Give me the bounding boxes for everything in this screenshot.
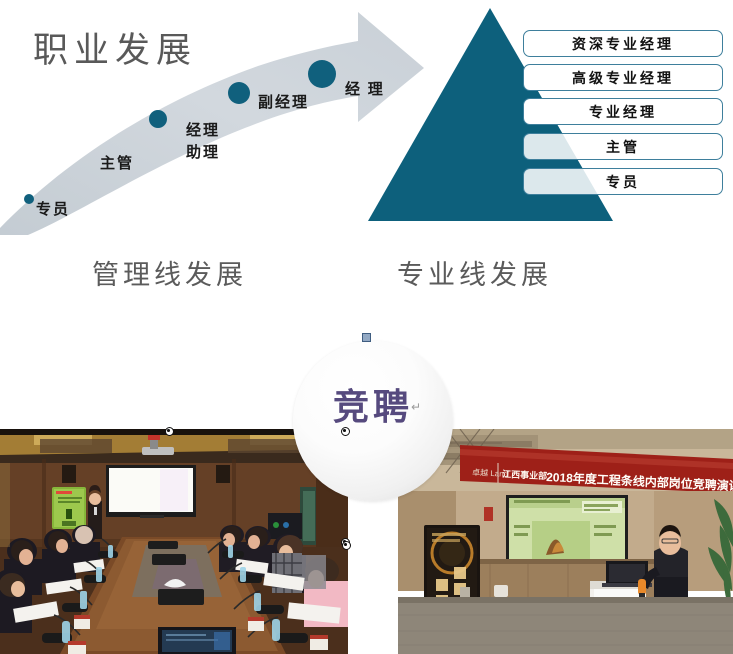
selection-marker-left-photo-top[interactable]	[165, 427, 174, 436]
caption-professional-line: 专业线发展	[397, 253, 552, 292]
career-node-dot-5[interactable]	[308, 60, 336, 88]
professional-pyramid-group[interactable]: 资深专业经理 高级专业经理 专业经理 主管 专员	[360, 0, 733, 235]
career-node-label-3: 经理助理	[186, 120, 232, 164]
slide-canvas: 职业发展 专员 主管 经理助理 副经理 经 理 资深专业经理 高级专业经理 专业…	[0, 0, 733, 654]
caption-management-line: 管理线发展	[92, 253, 247, 292]
conference-room-photo[interactable]	[0, 429, 348, 654]
career-node-dot-1[interactable]	[24, 194, 34, 204]
pyramid-level-2[interactable]: 主管	[523, 133, 723, 160]
competition-circle-label: 竞聘	[333, 378, 413, 430]
speech-event-image: 卓越 Land 江西事业部 2018年度工程条线内部岗位竞聘演讲会	[398, 429, 733, 654]
career-development-title: 职业发展	[33, 22, 197, 73]
pyramid-level-3[interactable]: 专业经理	[523, 98, 723, 125]
career-node-label-4: 副经理	[258, 91, 309, 112]
competition-speech-photo[interactable]: 卓越 Land 江西事业部 2018年度工程条线内部岗位竞聘演讲会	[398, 429, 733, 654]
svg-text:江西事业部: 江西事业部	[502, 468, 547, 481]
career-node-label-2: 主管	[100, 152, 134, 173]
pyramid-level-4[interactable]: 高级专业经理	[523, 64, 723, 91]
paragraph-mark: ↵	[411, 400, 421, 414]
pyramid-level-1[interactable]: 专员	[523, 168, 723, 195]
career-node-dot-4[interactable]	[228, 82, 250, 104]
selection-handle-top[interactable]	[362, 333, 371, 342]
conference-room-image	[0, 429, 348, 654]
selection-marker-right-photo-left[interactable]	[342, 541, 351, 550]
pyramid-level-5[interactable]: 资深专业经理	[523, 30, 723, 57]
career-node-label-1: 专员	[36, 198, 70, 219]
selection-marker-circle-shape[interactable]	[341, 427, 350, 436]
career-node-dot-2[interactable]	[149, 110, 167, 128]
